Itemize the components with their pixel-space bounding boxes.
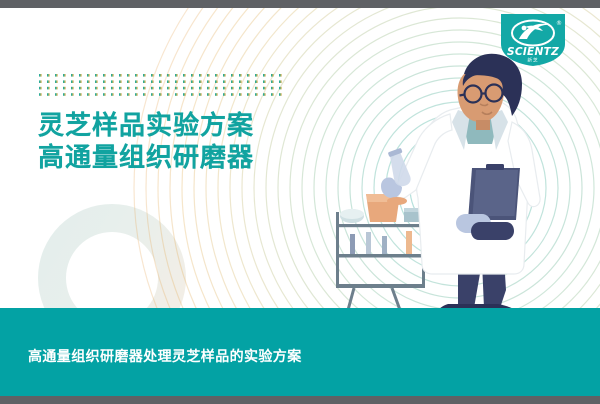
poster-root: 灵芝样品实验方案 高通量组织研磨器 (0, 0, 600, 404)
top-chrome-bar (0, 0, 600, 8)
headline-block: 灵芝样品实验方案 高通量组织研磨器 (38, 111, 254, 174)
registered-mark-icon: ® (556, 20, 562, 27)
headline-line-1: 灵芝样品实验方案 (38, 111, 254, 143)
logo-sub-wordmark: 新芝 (527, 57, 538, 64)
bottom-banner: 高通量组织研磨器处理灵芝样品的实验方案 (0, 308, 600, 396)
scientz-logo[interactable]: SCIENTZ 新芝 ® (497, 14, 569, 66)
logo-wordmark: SCIENTZ (507, 46, 559, 58)
lab-cart-icon (334, 194, 425, 311)
headline-line-2: 高通量组织研磨器 (38, 143, 254, 175)
poster-canvas: 灵芝样品实验方案 高通量组织研磨器 (0, 8, 600, 396)
dot-grid-decoration (39, 74, 287, 100)
clipboard-icon (468, 164, 520, 220)
banner-caption: 高通量组织研磨器处理灵芝样品的实验方案 (28, 346, 302, 366)
bottom-chrome-bar (0, 396, 600, 404)
